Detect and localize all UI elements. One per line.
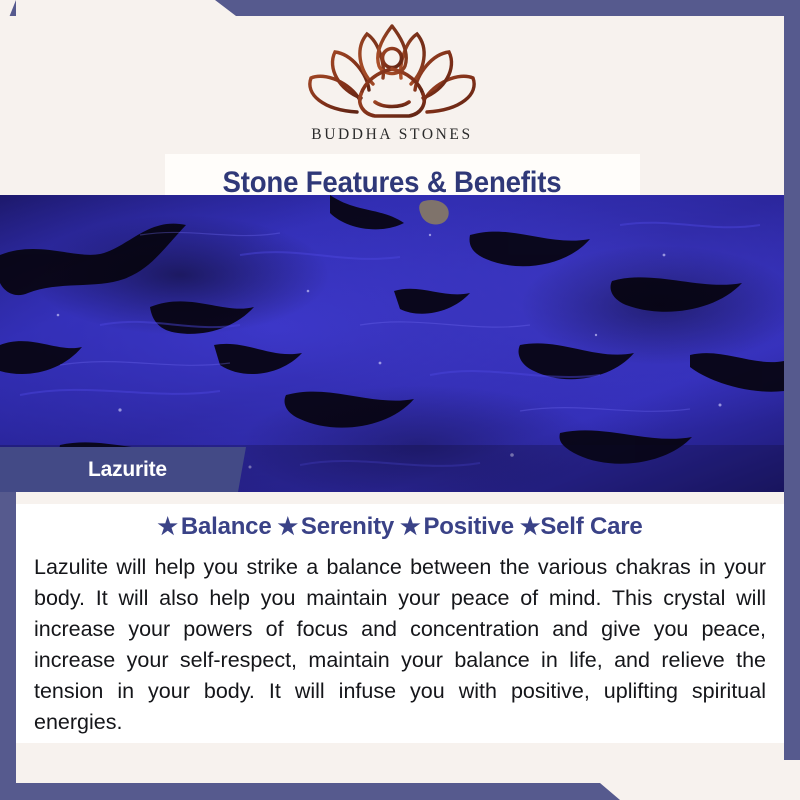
frame-band-right bbox=[784, 0, 800, 760]
keyword-item: ★Positive bbox=[400, 513, 514, 541]
stone-description: Lazulite will help you strike a balance … bbox=[34, 552, 766, 738]
keyword-item: ★Self Care bbox=[520, 513, 643, 541]
frame-band-top bbox=[0, 0, 800, 16]
keyword-item: ★Balance bbox=[157, 513, 271, 541]
star-icon: ★ bbox=[157, 513, 177, 539]
keyword-label: Balance bbox=[181, 513, 272, 540]
stone-info-poster: BUDDHA STONES Stone Features & Benefits bbox=[0, 0, 800, 800]
star-icon: ★ bbox=[520, 513, 540, 539]
stone-name-label: Lazurite bbox=[88, 458, 167, 482]
keyword-item: ★Serenity bbox=[277, 513, 394, 541]
frame-band-bottom bbox=[0, 783, 800, 800]
lotus-meditation-figure-icon bbox=[297, 20, 487, 124]
frame-band-left bbox=[0, 487, 16, 800]
keyword-label: Serenity bbox=[301, 513, 394, 540]
star-icon: ★ bbox=[400, 513, 420, 539]
brand-name: BUDDHA STONES bbox=[311, 126, 472, 144]
poster-header: BUDDHA STONES Stone Features & Benefits bbox=[0, 16, 784, 195]
star-icon: ★ bbox=[277, 513, 297, 539]
stone-name-banner: Lazurite bbox=[0, 447, 248, 492]
content-top-spacer bbox=[16, 492, 784, 504]
keyword-list: ★Balance ★Serenity ★Positive ★Self Care bbox=[34, 504, 766, 550]
keyword-label: Self Care bbox=[540, 513, 642, 540]
brand-logo: BUDDHA STONES bbox=[0, 20, 784, 148]
keyword-label: Positive bbox=[423, 513, 513, 540]
content-panel: ★Balance ★Serenity ★Positive ★Self Care … bbox=[16, 504, 784, 743]
